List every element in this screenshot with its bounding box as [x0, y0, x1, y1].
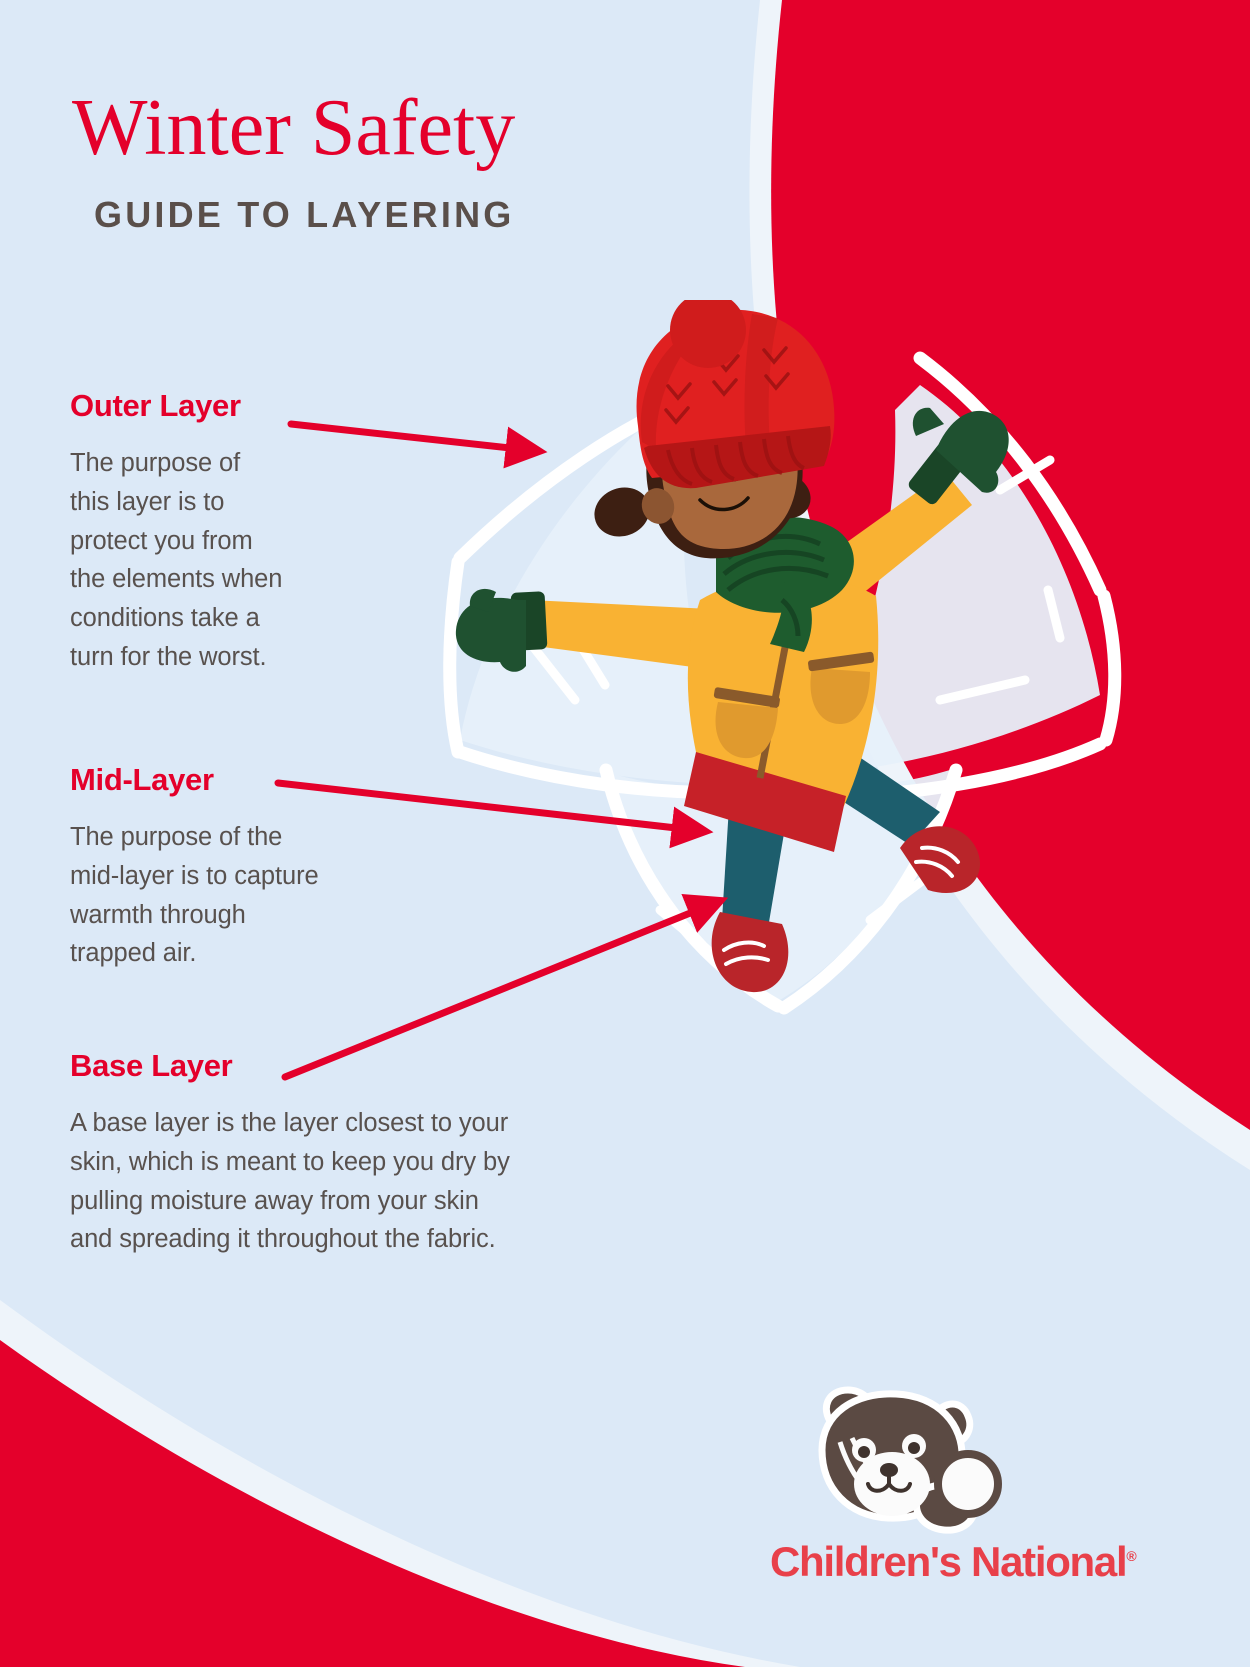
section-base-layer: Base Layer A base layer is the layer clo…: [70, 1048, 630, 1259]
brand-logo: Children's National®: [770, 1380, 1130, 1610]
child-snow-angel-illustration: [400, 300, 1140, 1020]
logo-wordmark-text: Children's National: [770, 1538, 1126, 1585]
section-heading-mid-layer: Mid-Layer: [70, 762, 410, 798]
poster-header: Winter Safety GUIDE TO LAYERING: [72, 88, 772, 236]
section-body-base-layer: A base layer is the layer closest to you…: [70, 1104, 630, 1259]
section-body-mid-layer: The purpose of the mid-layer is to captu…: [70, 818, 410, 973]
page-subtitle: GUIDE TO LAYERING: [94, 194, 772, 236]
section-heading-outer-layer: Outer Layer: [70, 388, 370, 424]
winter-safety-poster: Winter Safety GUIDE TO LAYERING: [0, 0, 1250, 1667]
section-mid-layer: Mid-Layer The purpose of the mid-layer i…: [70, 762, 410, 973]
registered-trademark-mark: ®: [1126, 1548, 1136, 1564]
winter-hat: [637, 300, 835, 488]
section-outer-layer: Outer Layer The purpose of this layer is…: [70, 388, 370, 677]
logo-wordmark: Children's National®: [770, 1538, 1120, 1586]
section-heading-base-layer: Base Layer: [70, 1048, 630, 1084]
bear-logo-icon: [792, 1380, 1022, 1540]
page-title: Winter Safety: [72, 88, 772, 168]
section-body-outer-layer: The purpose of this layer is to protect …: [70, 444, 370, 677]
